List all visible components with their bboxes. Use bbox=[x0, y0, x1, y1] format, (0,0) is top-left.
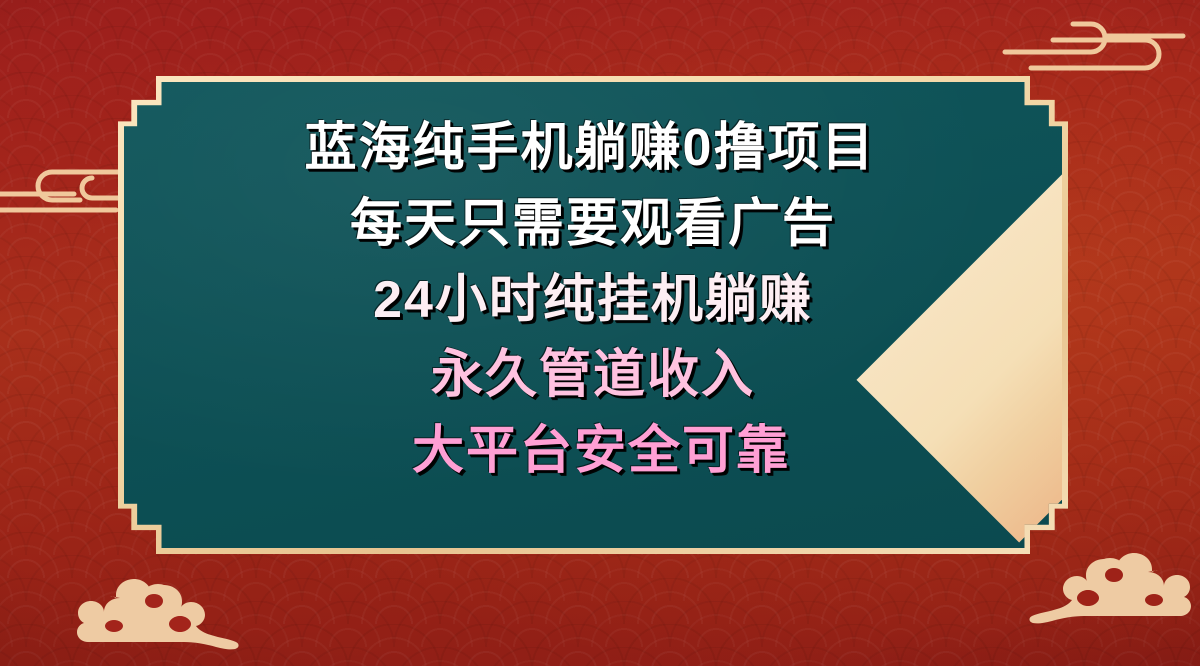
headline-line-1: 蓝海纯手机躺赚0撸项目 bbox=[305, 112, 876, 186]
headline-line-2: 每天只需要观看广告 bbox=[350, 188, 836, 262]
content-card: 蓝海纯手机躺赚0撸项目 每天只需要观看广告 24小时纯挂机躺赚 永久管道收入 大… bbox=[118, 76, 1068, 554]
headline-line-4: 永久管道收入 bbox=[431, 339, 755, 413]
card-teal-face: 蓝海纯手机躺赚0撸项目 每天只需要观看广告 24小时纯挂机躺赚 永久管道收入 大… bbox=[124, 82, 1062, 548]
poster-canvas: 蓝海纯手机躺赚0撸项目 每天只需要观看广告 24小时纯挂机躺赚 永久管道收入 大… bbox=[0, 0, 1200, 666]
line-cloud-left-icon bbox=[0, 152, 128, 226]
headline-block: 蓝海纯手机躺赚0撸项目 每天只需要观看广告 24小时纯挂机躺赚 永久管道收入 大… bbox=[124, 112, 1062, 489]
headline-line-3: 24小时纯挂机躺赚 bbox=[373, 264, 813, 338]
auspicious-cloud-bottom-left-icon bbox=[62, 564, 262, 660]
headline-line-5: 大平台安全可靠 bbox=[412, 415, 790, 489]
